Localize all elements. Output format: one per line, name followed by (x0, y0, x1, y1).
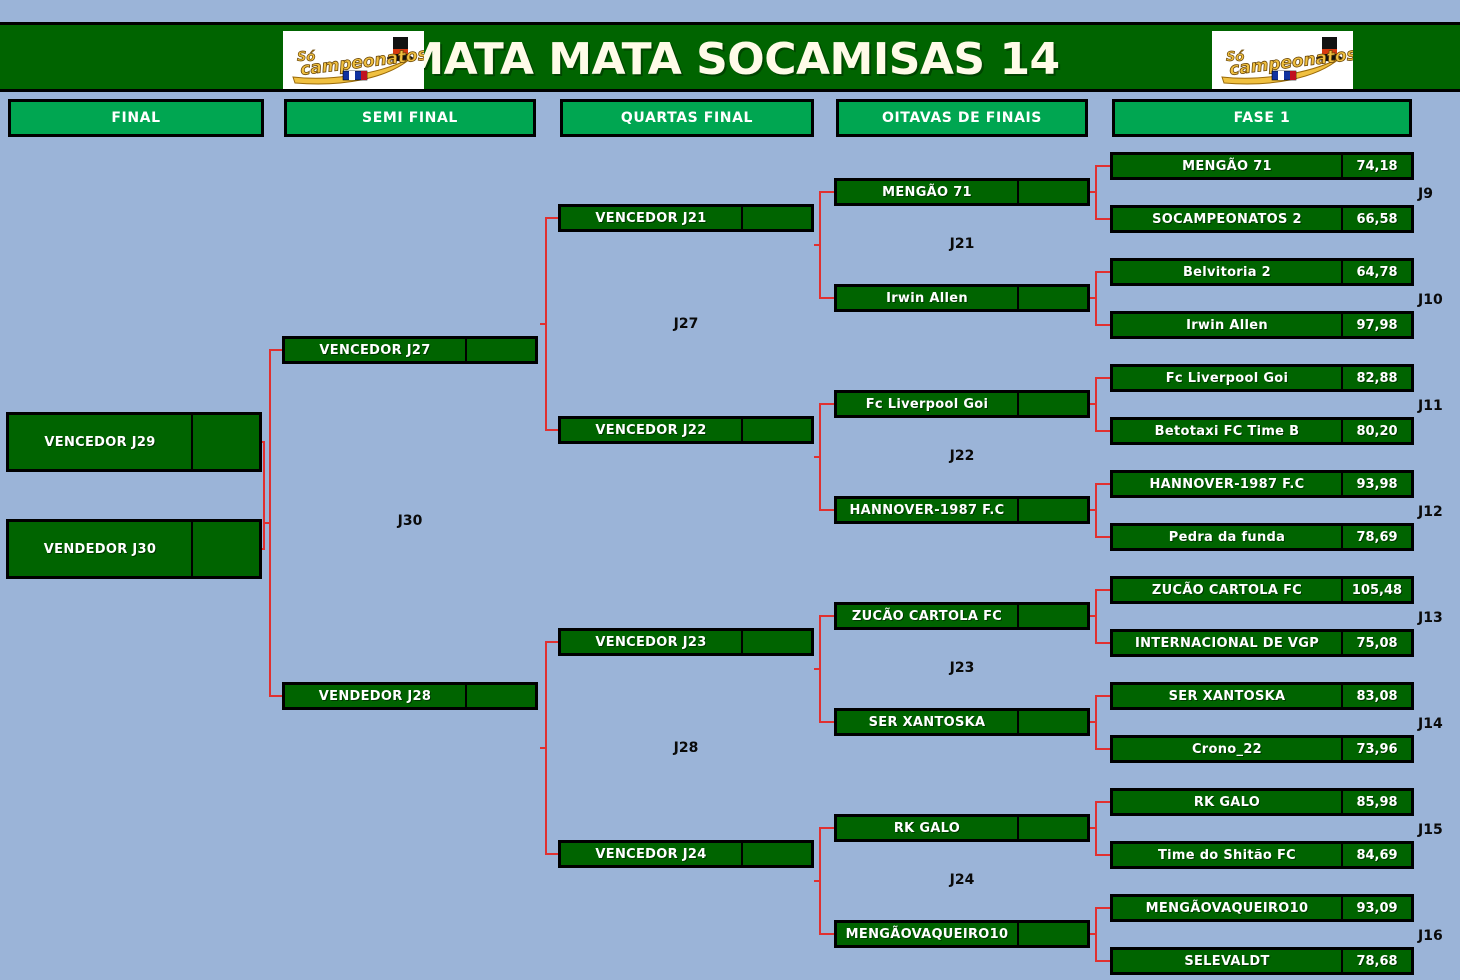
team-score (465, 685, 535, 707)
team-score: 74,18 (1341, 155, 1411, 177)
team-score: 97,98 (1341, 314, 1411, 336)
team-name: Pedra da funda (1113, 526, 1341, 548)
fase1-match-box-8[interactable]: Pedra da funda78,69 (1110, 523, 1414, 551)
team-name: ZUCÃO CARTOLA FC (1113, 579, 1341, 601)
team-score: 85,98 (1341, 791, 1411, 813)
team-name: Irwin Allen (837, 287, 1017, 309)
team-score: 93,09 (1341, 897, 1411, 919)
oitavas-match-id-J23: J23 (834, 660, 1090, 676)
team-score (741, 419, 811, 441)
fase1-game-label-J12: J12 (1418, 504, 1443, 520)
team-score: 105,48 (1341, 579, 1411, 601)
team-name: VENDEDOR J28 (285, 685, 465, 707)
team-name: Crono_22 (1113, 738, 1341, 760)
quartas-match-id-J27: J27 (558, 316, 814, 332)
round-header-fase1: FASE 1 (1112, 99, 1412, 137)
team-name: MENGÃOVAQUEIRO10 (837, 923, 1017, 945)
team-score (1017, 499, 1087, 521)
semi-match-id-J30: J30 (282, 513, 538, 529)
team-score (1017, 393, 1087, 415)
oitavas-match-box-1[interactable]: MENGÃO 71 (834, 178, 1090, 206)
fase1-game-label-J16: J16 (1418, 928, 1443, 944)
fase1-match-box-15[interactable]: MENGÃOVAQUEIRO1093,09 (1110, 894, 1414, 922)
team-score (741, 631, 811, 653)
team-score (741, 207, 811, 229)
team-name: INTERNACIONAL DE VGP (1113, 632, 1341, 654)
fase1-match-box-13[interactable]: RK GALO85,98 (1110, 788, 1414, 816)
team-score (191, 415, 259, 469)
fase1-game-label-J11: J11 (1418, 398, 1443, 414)
team-score: 82,88 (1341, 367, 1411, 389)
oitavas-match-id-J22: J22 (834, 448, 1090, 464)
team-score (1017, 181, 1087, 203)
semi-match-box-2[interactable]: VENDEDOR J28 (282, 682, 538, 710)
so-campeonatos-logo-icon: Só campeonatos (1212, 31, 1353, 89)
fase1-match-box-9[interactable]: ZUCÃO CARTOLA FC105,48 (1110, 576, 1414, 604)
team-score: 64,78 (1341, 261, 1411, 283)
team-score: 78,68 (1341, 950, 1411, 972)
fase1-match-box-7[interactable]: HANNOVER-1987 F.C93,98 (1110, 470, 1414, 498)
fase1-match-box-4[interactable]: Irwin Allen97,98 (1110, 311, 1414, 339)
team-score: 75,08 (1341, 632, 1411, 654)
team-score: 93,98 (1341, 473, 1411, 495)
team-name: SOCAMPEONATOS 2 (1113, 208, 1341, 230)
team-name: VENCEDOR J22 (561, 419, 741, 441)
team-name: HANNOVER-1987 F.C (1113, 473, 1341, 495)
team-score (1017, 287, 1087, 309)
team-name: RK GALO (837, 817, 1017, 839)
team-score (1017, 923, 1087, 945)
fase1-game-label-J13: J13 (1418, 610, 1443, 626)
round-header-semi: SEMI FINAL (284, 99, 536, 137)
fase1-match-box-11[interactable]: SER XANTOSKA83,08 (1110, 682, 1414, 710)
oitavas-match-id-J24: J24 (834, 872, 1090, 888)
fase1-game-label-J9: J9 (1418, 186, 1433, 202)
team-name: Fc Liverpool Goi (837, 393, 1017, 415)
team-name: Belvitoria 2 (1113, 261, 1341, 283)
semi-match-box-1[interactable]: VENCEDOR J27 (282, 336, 538, 364)
quartas-match-id-J28: J28 (558, 740, 814, 756)
team-name: MENGÃO 71 (1113, 155, 1341, 177)
fase1-match-box-10[interactable]: INTERNACIONAL DE VGP75,08 (1110, 629, 1414, 657)
team-name: Irwin Allen (1113, 314, 1341, 336)
team-score: 73,96 (1341, 738, 1411, 760)
team-name: VENCEDOR J27 (285, 339, 465, 361)
oitavas-match-box-8[interactable]: MENGÃOVAQUEIRO10 (834, 920, 1090, 948)
team-name: SER XANTOSKA (1113, 685, 1341, 707)
team-name: VENDEDOR J30 (9, 522, 191, 576)
team-name: SELEVALDT (1113, 950, 1341, 972)
team-name: MENGÃOVAQUEIRO10 (1113, 897, 1341, 919)
oitavas-match-box-5[interactable]: ZUCÃO CARTOLA FC (834, 602, 1090, 630)
round-header-final: FINAL (8, 99, 264, 137)
quartas-match-box-1[interactable]: VENCEDOR J21 (558, 204, 814, 232)
team-score: 84,69 (1341, 844, 1411, 866)
round-header-quartas: QUARTAS FINAL (560, 99, 814, 137)
so-campeonatos-logo: Só campeonatos (1212, 31, 1353, 89)
team-name: Betotaxi FC Time B (1113, 420, 1341, 442)
team-score (1017, 817, 1087, 839)
fase1-match-box-12[interactable]: Crono_2273,96 (1110, 735, 1414, 763)
team-name: HANNOVER-1987 F.C (837, 499, 1017, 521)
team-score (465, 339, 535, 361)
fase1-match-box-14[interactable]: Time do Shitão FC84,69 (1110, 841, 1414, 869)
team-name: RK GALO (1113, 791, 1341, 813)
oitavas-match-id-J21: J21 (834, 236, 1090, 252)
fase1-game-label-J10: J10 (1418, 292, 1443, 308)
round-header-oitavas: OITAVAS DE FINAIS (836, 99, 1088, 137)
team-score (1017, 605, 1087, 627)
fase1-match-box-2[interactable]: SOCAMPEONATOS 266,58 (1110, 205, 1414, 233)
final-match-box-2[interactable]: VENDEDOR J30 (6, 519, 262, 579)
fase1-match-box-3[interactable]: Belvitoria 264,78 (1110, 258, 1414, 286)
team-name: Fc Liverpool Goi (1113, 367, 1341, 389)
final-match-box-1[interactable]: VENCEDOR J29 (6, 412, 262, 472)
team-name: VENCEDOR J29 (9, 415, 191, 469)
title-bar: MATA MATA SOCAMISAS 14 Só campeonatos (0, 22, 1460, 92)
team-score: 80,20 (1341, 420, 1411, 442)
team-score: 78,69 (1341, 526, 1411, 548)
fase1-match-box-1[interactable]: MENGÃO 7174,18 (1110, 152, 1414, 180)
team-score (191, 522, 259, 576)
fase1-game-label-J15: J15 (1418, 822, 1443, 838)
quartas-match-box-3[interactable]: VENCEDOR J23 (558, 628, 814, 656)
fase1-game-label-J14: J14 (1418, 716, 1443, 732)
team-name: MENGÃO 71 (837, 181, 1017, 203)
team-name: VENCEDOR J23 (561, 631, 741, 653)
oitavas-match-box-6[interactable]: SER XANTOSKA (834, 708, 1090, 736)
team-score: 66,58 (1341, 208, 1411, 230)
fase1-match-box-6[interactable]: Betotaxi FC Time B80,20 (1110, 417, 1414, 445)
team-name: VENCEDOR J24 (561, 843, 741, 865)
team-name: VENCEDOR J21 (561, 207, 741, 229)
oitavas-match-box-2[interactable]: Irwin Allen (834, 284, 1090, 312)
oitavas-match-box-4[interactable]: HANNOVER-1987 F.C (834, 496, 1090, 524)
team-name: ZUCÃO CARTOLA FC (837, 605, 1017, 627)
oitavas-match-box-7[interactable]: RK GALO (834, 814, 1090, 842)
fase1-match-box-16[interactable]: SELEVALDT78,68 (1110, 947, 1414, 975)
team-name: SER XANTOSKA (837, 711, 1017, 733)
oitavas-match-box-3[interactable]: Fc Liverpool Goi (834, 390, 1090, 418)
so-campeonatos-logo-icon: Só campeonatos (283, 31, 424, 89)
team-name: Time do Shitão FC (1113, 844, 1341, 866)
so-campeonatos-logo: Só campeonatos (283, 31, 424, 89)
quartas-match-box-4[interactable]: VENCEDOR J24 (558, 840, 814, 868)
fase1-match-box-5[interactable]: Fc Liverpool Goi82,88 (1110, 364, 1414, 392)
quartas-match-box-2[interactable]: VENCEDOR J22 (558, 416, 814, 444)
team-score (741, 843, 811, 865)
team-score (1017, 711, 1087, 733)
team-score: 83,08 (1341, 685, 1411, 707)
